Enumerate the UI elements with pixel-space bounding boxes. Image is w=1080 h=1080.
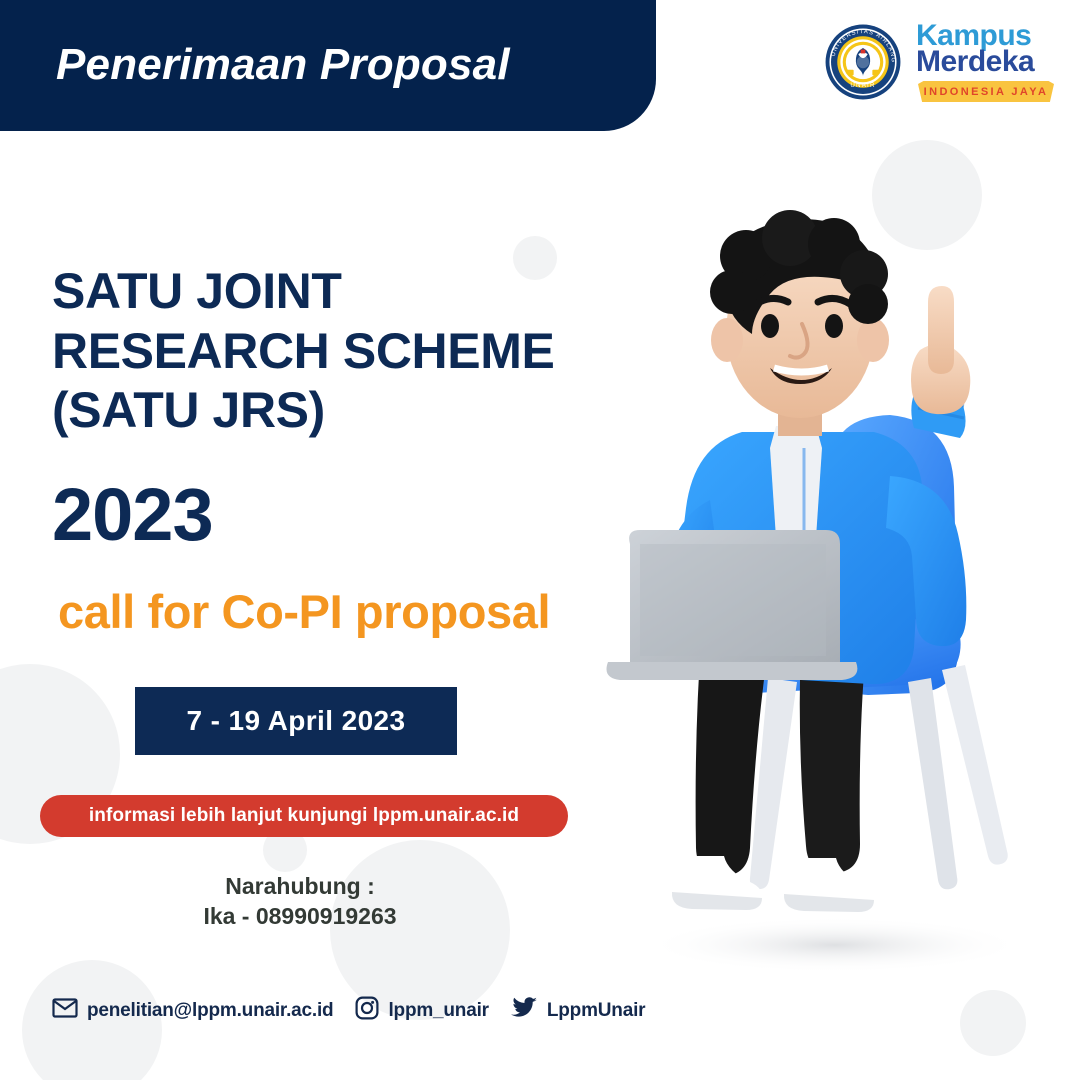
illustration-man-with-laptop [590,200,1060,980]
kampus-merdeka-ribbon-text: INDONESIA JAYA [918,82,1054,102]
poster-canvas: Penerimaan Proposal UNAIR [0,0,1080,1080]
footer-email-item[interactable]: penelitian@lppm.unair.ac.id [52,998,333,1023]
headline-block: SATU JOINT RESEARCH SCHEME (SATU JRS) [52,262,652,441]
svg-text:UNAIR: UNAIR [850,82,875,89]
info-pill-text: informasi lebih lanjut kunjungi lppm.una… [89,805,519,827]
envelope-icon [52,998,78,1023]
headline-year: 2023 [52,478,213,552]
headline-line-1: SATU JOINT [52,262,652,322]
kampus-merdeka-line2: Merdeka [916,48,1056,76]
headline-line-2: RESEARCH SCHEME [52,322,652,382]
contact-block: Narahubung : Ika - 08990919263 [0,872,600,932]
instagram-icon [355,996,379,1025]
unair-seal-logo: UNAIR UNIVERSITAS AIRLANGGA [824,23,902,101]
headline-line-3: (SATU JRS) [52,381,652,441]
header-banner: Penerimaan Proposal [0,0,656,131]
date-badge-text: 7 - 19 April 2023 [187,705,406,737]
contact-label: Narahubung : [0,872,600,902]
twitter-icon [511,997,538,1024]
kampus-merdeka-logo: Kampus Merdeka INDONESIA JAYA [916,22,1056,102]
footer-twitter-item[interactable]: LppmUnair [511,997,645,1024]
footer-instagram-label: lppm_unair [388,1000,488,1022]
date-badge: 7 - 19 April 2023 [135,687,457,755]
contact-person: Ika - 08990919263 [0,902,600,932]
info-pill[interactable]: informasi lebih lanjut kunjungi lppm.una… [40,795,568,837]
footer-social-row: penelitian@lppm.unair.ac.id lppm_unair L… [52,996,645,1025]
footer-instagram-item[interactable]: lppm_unair [355,996,488,1025]
banner-title: Penerimaan Proposal [56,40,510,90]
headline-subtitle: call for Co-PI proposal [58,588,550,635]
logo-group: UNAIR UNIVERSITAS AIRLANGGA Kampus Merde… [824,22,1056,102]
footer-twitter-label: LppmUnair [547,1000,645,1022]
footer-email-label: penelitian@lppm.unair.ac.id [87,1000,333,1022]
decorative-circle [960,990,1026,1056]
